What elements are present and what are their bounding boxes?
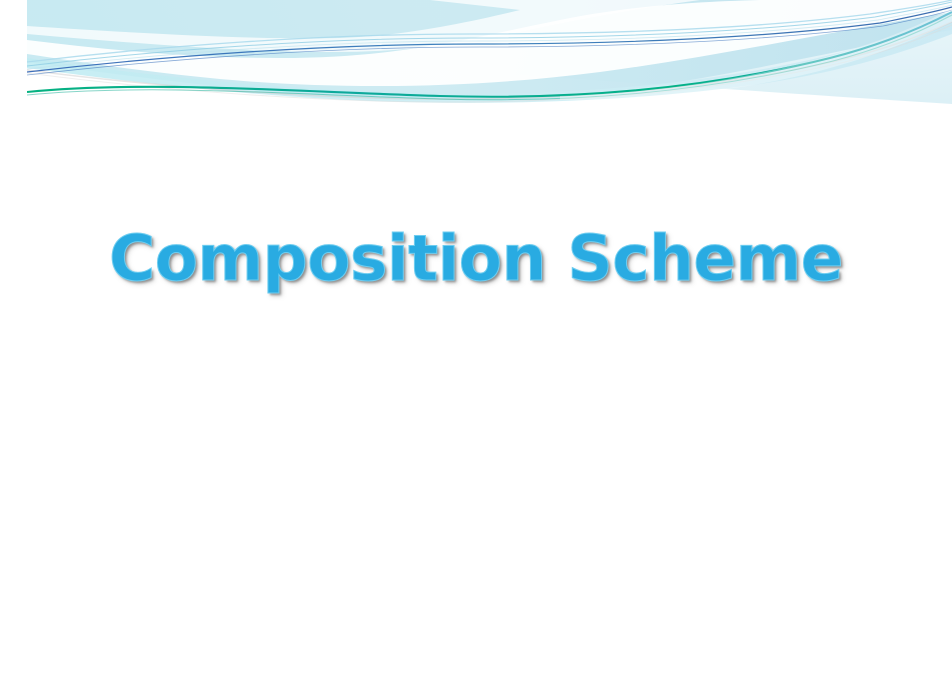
decorative-banner <box>0 0 952 120</box>
page-title: Composition Scheme <box>109 226 843 292</box>
presentation-slide: Composition Scheme <box>0 0 952 673</box>
slide-title-placeholder: Composition Scheme <box>0 226 952 292</box>
banner-swoosh-graphic <box>0 0 952 120</box>
slide-body-placeholder <box>60 340 892 640</box>
